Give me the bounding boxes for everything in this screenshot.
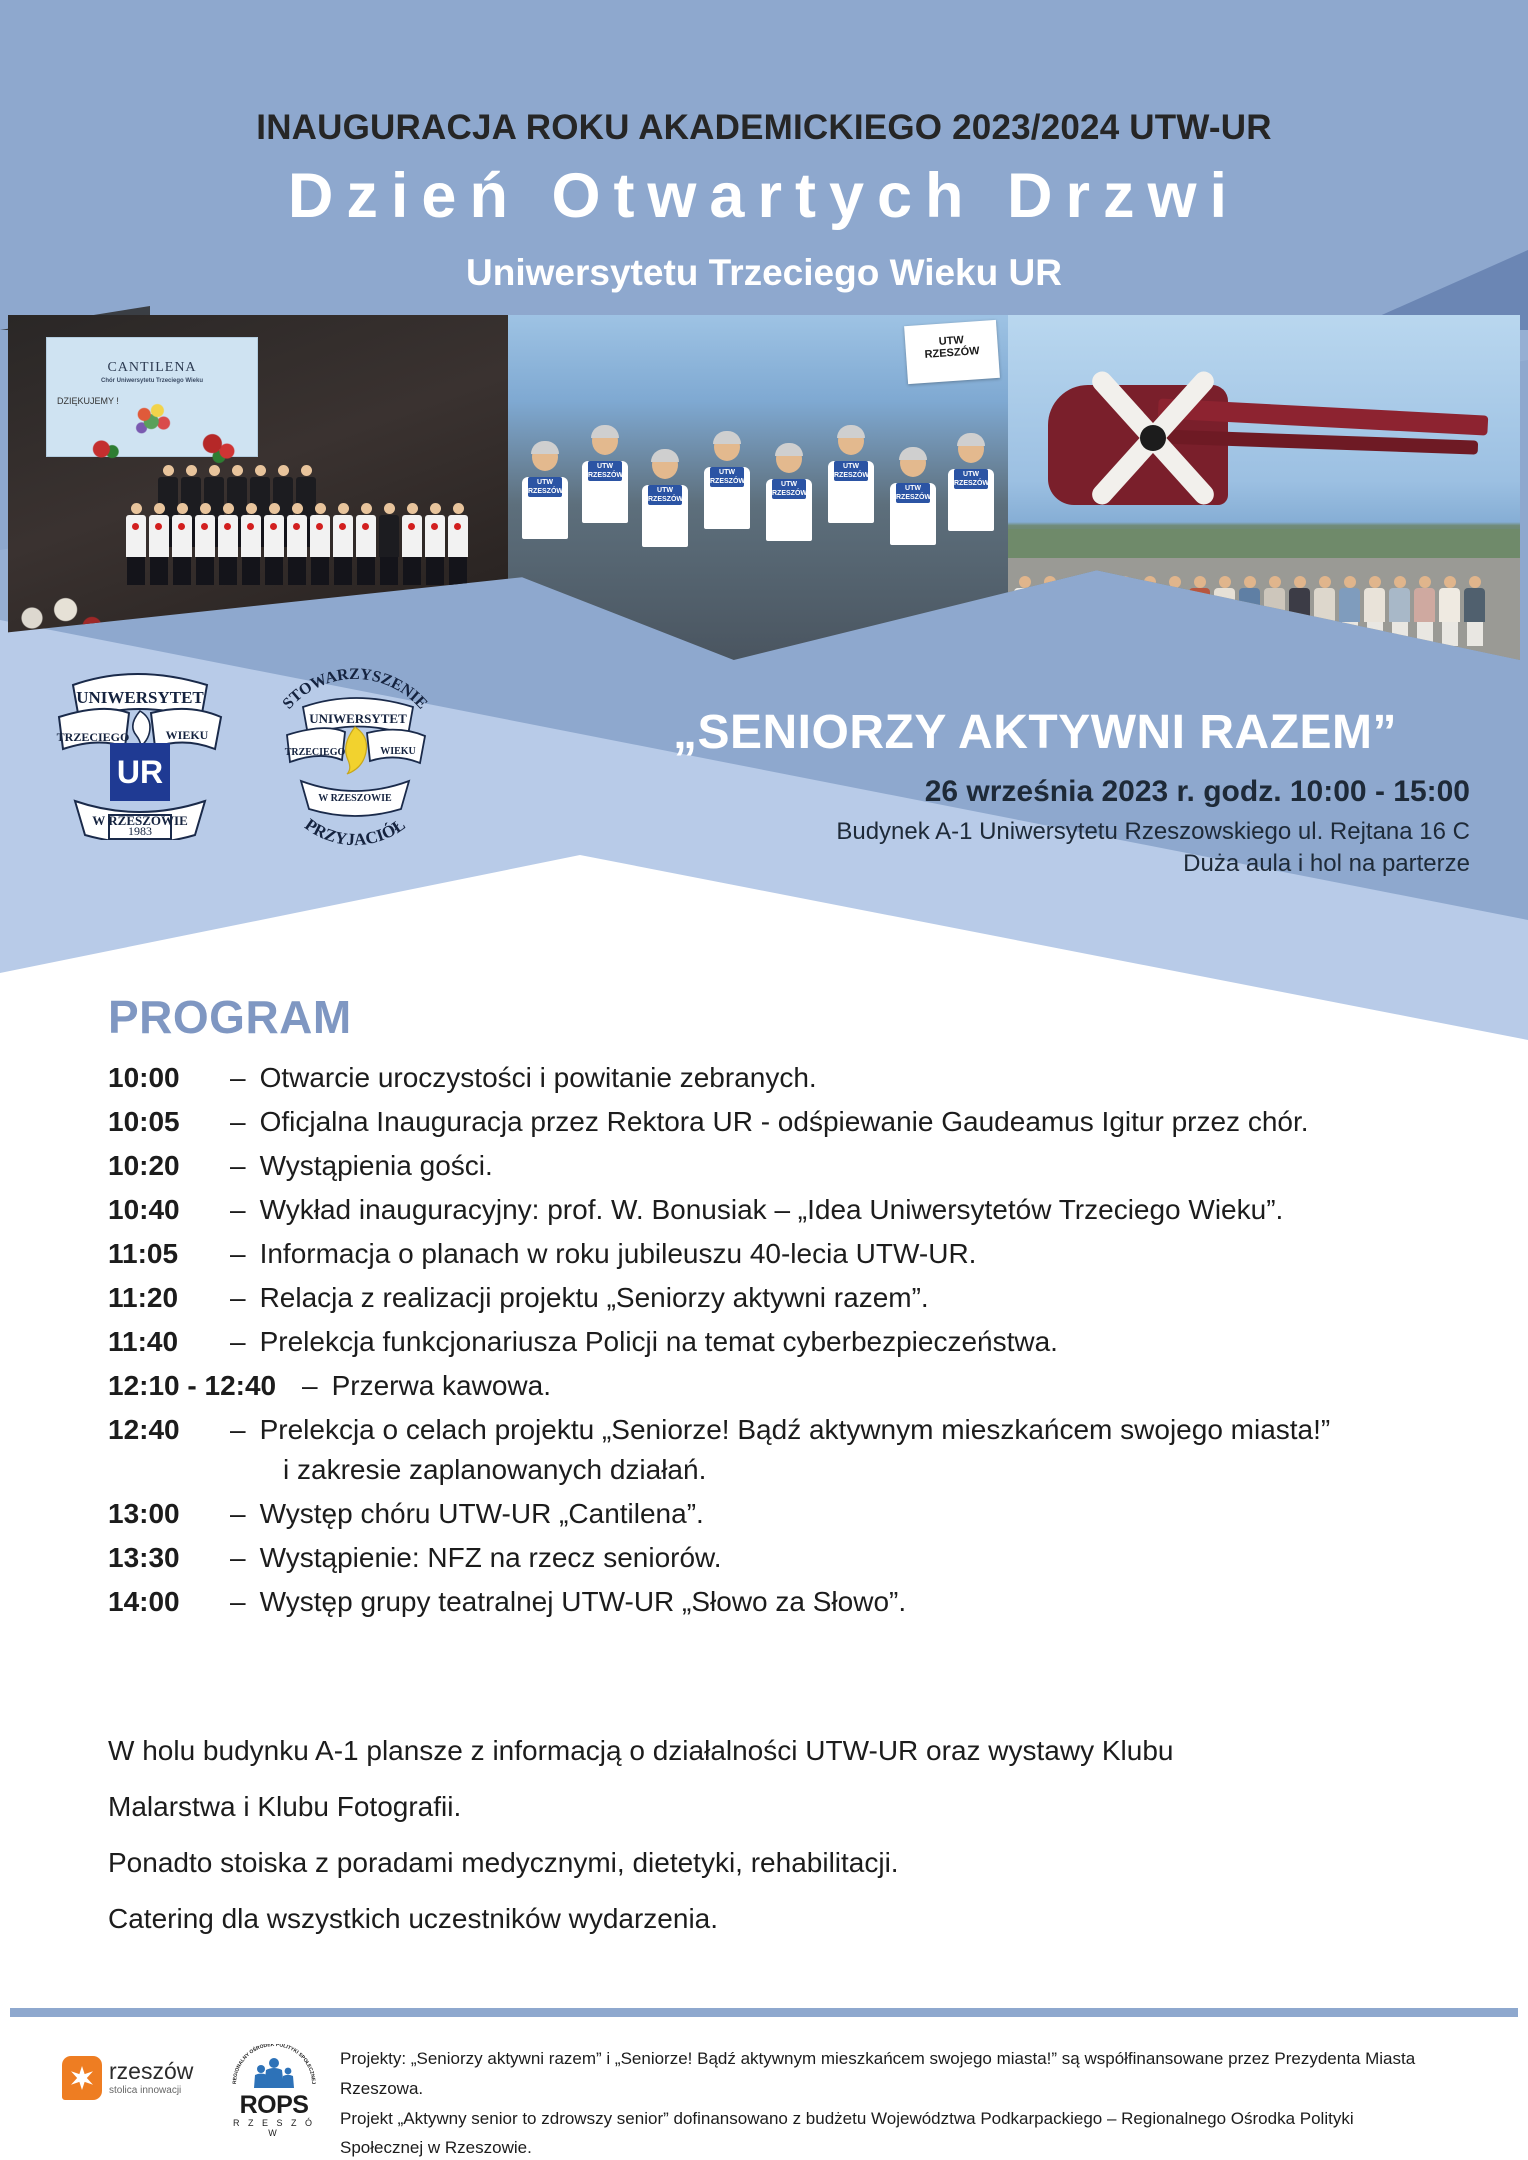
program-row-continuation: i zakresie zaplanowanych działań. <box>108 1454 1468 1486</box>
program-time: 11:40 <box>108 1326 226 1358</box>
choir-member <box>218 503 238 585</box>
program-time: 10:20 <box>108 1150 226 1182</box>
shirt-logo: UTWRZESZÓW <box>710 467 744 487</box>
choir-member <box>448 503 468 585</box>
event-place: Budynek A-1 Uniwersytetu Rzeszowskiego u… <box>600 818 1470 846</box>
crowd-person <box>1464 576 1486 646</box>
program-dash: – <box>226 1194 260 1226</box>
group-person: UTWRZESZÓW <box>642 451 688 547</box>
program-dash: – <box>226 1106 260 1138</box>
program-dash: – <box>226 1498 260 1530</box>
program-dash: – <box>226 1238 260 1270</box>
program-text: Relacja z realizacji projektu „Seniorzy … <box>260 1282 929 1314</box>
logo-rops: REGIONALNY OŚRODEK POLITYKI SPOŁECZNEJ R… <box>228 2044 320 2122</box>
program-text: Występ chóru UTW-UR „Cantilena”. <box>260 1498 704 1530</box>
program-row: 10:40 – Wykład inauguracyjny: prof. W. B… <box>108 1194 1468 1226</box>
rops-family-icon: REGIONALNY OŚRODEK POLITYKI SPOŁECZNEJ <box>228 2044 320 2088</box>
program-text: Wystąpienia gości. <box>260 1150 493 1182</box>
shirt-logo: UTWRZESZÓW <box>834 461 868 481</box>
rzeszow-tagline: stolica innowacji <box>109 2086 193 2096</box>
program-row: 10:20 – Wystąpienia gości. <box>108 1150 1468 1182</box>
note-line: Catering dla wszystkich uczestników wyda… <box>108 1903 1468 1935</box>
logo-utw-rzeszow: UR UNIWERSYTET TRZECIEGO WIEKU W RZESZOW… <box>45 655 235 840</box>
utw-banner-sign: UTW RZESZÓW <box>904 320 1000 384</box>
program-dash: – <box>226 1282 260 1314</box>
logo-stow-line4: W RZESZOWIE <box>318 793 392 804</box>
choir-member <box>172 503 192 585</box>
event-room: Duża aula i hol na parterze <box>600 850 1470 878</box>
group-person: UTWRZESZÓW <box>828 427 874 523</box>
footer-divider <box>10 2008 1518 2017</box>
footer-line-1: Projekty: „Seniorzy aktywni razem” i „Se… <box>340 2044 1500 2104</box>
note-line: Ponadto stoiska z poradami medycznymi, d… <box>108 1847 1468 1879</box>
program-time: 10:40 <box>108 1194 226 1226</box>
choir-member <box>241 503 261 585</box>
program-row: 11:40 – Prelekcja funkcjonariusza Policj… <box>108 1326 1468 1358</box>
page-subtitle: Uniwersytetu Trzeciego Wieku UR <box>0 252 1528 294</box>
footer-funding-text: Projekty: „Seniorzy aktywni razem” i „Se… <box>340 2044 1500 2160</box>
group-person: UTWRZESZÓW <box>890 449 936 545</box>
choir-member <box>356 503 376 585</box>
program-time: 12:40 <box>108 1414 226 1446</box>
choir-member <box>126 503 146 585</box>
program-time: 10:00 <box>108 1062 226 1094</box>
choir-member <box>425 503 445 585</box>
footer-line-2: Projekt „Aktywny senior to zdrowszy seni… <box>340 2104 1500 2134</box>
logo-utw-line2: TRZECIEGO <box>57 730 130 744</box>
program-notes: W holu budynku A-1 plansze z informacją … <box>108 1735 1468 1959</box>
rose-right-graphic <box>197 430 241 464</box>
slide-thanks: DZIĘKUJEMY ! <box>57 396 119 406</box>
program-text: Prelekcja funkcjonariusza Policji na tem… <box>260 1326 1058 1358</box>
program-text: Informacja o planach w roku jubileuszu 4… <box>260 1238 977 1270</box>
program-text-continuation: i zakresie zaplanowanych działań. <box>283 1454 706 1486</box>
program-dash: – <box>226 1326 260 1358</box>
poster-root: INAUGURACJA ROKU AKADEMICKIEGO 2023/2024… <box>0 0 1528 2160</box>
rzeszow-star-icon <box>62 2056 102 2100</box>
logo-rzeszow-city: rzeszów stolica innowacji <box>62 2052 210 2104</box>
program-row: 13:30 – Wystąpienie: NFZ na rzecz senior… <box>108 1542 1468 1574</box>
program-time: 13:30 <box>108 1542 226 1574</box>
program-row: 14:00 – Występ grupy teatralnej UTW-UR „… <box>108 1586 1468 1618</box>
choir-front-row <box>126 503 468 585</box>
group-person: UTWRZESZÓW <box>522 443 568 539</box>
program-text: Przerwa kawowa. <box>332 1370 551 1402</box>
program-text: Wystąpienie: NFZ na rzecz seniorów. <box>260 1542 722 1574</box>
group-person: UTWRZESZÓW <box>582 427 628 523</box>
program-row: 13:00 – Występ chóru UTW-UR „Cantilena”. <box>108 1498 1468 1530</box>
program-time: 11:05 <box>108 1238 226 1270</box>
header-kicker: INAUGURACJA ROKU AKADEMICKIEGO 2023/2024… <box>0 108 1528 148</box>
note-line: W holu budynku A-1 plansze z informacją … <box>108 1735 1468 1767</box>
program-dash: – <box>226 1150 260 1182</box>
program-row: 12:40 – Prelekcja o celach projektu „Sen… <box>108 1414 1468 1446</box>
shirt-logo: UTWRZESZÓW <box>588 461 622 481</box>
program-row: 11:20 – Relacja z realizacji projektu „S… <box>108 1282 1468 1314</box>
choir-member <box>333 503 353 585</box>
program-dash: – <box>226 1586 260 1618</box>
logo-stow-arc-bottom: PRZYJACIÓŁ <box>301 815 408 849</box>
logo-utw-year: 1983 <box>128 824 152 838</box>
logo-utw-line3: WIEKU <box>166 728 209 742</box>
program-time: 13:00 <box>108 1498 226 1530</box>
program-text: Występ grupy teatralnej UTW-UR „Słowo za… <box>260 1586 907 1618</box>
presentation-screen: CANTILENA Chór Uniwersytetu Trzeciego Wi… <box>46 337 258 457</box>
footer-line-3: Społecznej w Rzeszowie. <box>340 2133 1500 2160</box>
program-time: 14:00 <box>108 1586 226 1618</box>
rose-left-graphic <box>87 436 123 462</box>
slide-subtitle: Chór Uniwersytetu Trzeciego Wieku <box>47 378 257 384</box>
rops-wordmark: ROPS <box>228 2093 320 2118</box>
logo-stow-line3: WIEKU <box>380 746 416 757</box>
program-text: Oficjalna Inauguracja przez Rektora UR -… <box>260 1106 1309 1138</box>
svg-text:UR: UR <box>117 754 163 790</box>
program-time: 11:20 <box>108 1282 226 1314</box>
propeller-hub <box>1140 425 1166 451</box>
program-time: 10:05 <box>108 1106 226 1138</box>
crowd-person <box>1439 576 1461 646</box>
group-person: UTWRZESZÓW <box>704 433 750 529</box>
choir-member <box>149 503 169 585</box>
choir-member <box>287 503 307 585</box>
logo-stowarzyszenie-przyjaciol: STOWARZYSZENIE PRZYJACIÓŁ UNIWERSYTET TR… <box>255 655 455 850</box>
program-row: 10:00 – Otwarcie uroczystości i powitani… <box>108 1062 1468 1094</box>
propeller-icon <box>1078 363 1228 513</box>
shirt-logo: UTWRZESZÓW <box>528 477 562 497</box>
note-line: Malarstwa i Klubu Fotografii. <box>108 1791 1468 1823</box>
program-time: 12:10 - 12:40 <box>108 1370 298 1402</box>
program-heading: PROGRAM <box>108 990 352 1044</box>
program-dash: – <box>226 1414 260 1446</box>
logo-utw-line1: UNIWERSYTET <box>76 688 204 707</box>
program-dash: – <box>226 1542 260 1574</box>
slide-title: CANTILENA <box>47 360 257 376</box>
group-person: UTWRZESZÓW <box>766 445 812 541</box>
choir-member <box>264 503 284 585</box>
shirt-logo: UTWRZESZÓW <box>896 483 930 503</box>
program-dash: – <box>298 1370 332 1402</box>
logo-stow-line1: UNIWERSYTET <box>309 711 407 726</box>
logo-stow-line2: TRZECIEGO <box>285 747 346 758</box>
crowd-person <box>1414 576 1436 646</box>
choir-member <box>402 503 422 585</box>
group-person: UTWRZESZÓW <box>948 435 994 531</box>
program-text: Wykład inauguracyjny: prof. W. Bonusiak … <box>260 1194 1284 1226</box>
event-date: 26 września 2023 r. godz. 10:00 - 15:00 <box>600 775 1470 809</box>
choir-member <box>195 503 215 585</box>
rzeszow-name: rzeszów <box>109 2060 193 2083</box>
rops-city: R Z E S Z Ó W <box>228 2118 320 2138</box>
program-row: 11:05 – Informacja o planach w roku jubi… <box>108 1238 1468 1270</box>
program-dash: – <box>226 1062 260 1094</box>
page-title: Dzień Otwartych Drzwi <box>0 160 1528 232</box>
program-row: 12:10 - 12:40 – Przerwa kawowa. <box>108 1370 1468 1402</box>
program-row: 10:05 – Oficjalna Inauguracja przez Rekt… <box>108 1106 1468 1138</box>
shirt-logo: UTWRZESZÓW <box>772 479 806 499</box>
choir-member <box>310 503 330 585</box>
event-title: „SENIORZY AKTYWNI RAZEM” <box>600 705 1470 760</box>
program-text: Prelekcja o celach projektu „Seniorze! B… <box>260 1414 1331 1446</box>
bouquet-graphic <box>131 400 175 448</box>
shirt-logo: UTWRZESZÓW <box>648 485 682 505</box>
choir-conductor <box>379 503 399 585</box>
program-text: Otwarcie uroczystości i powitanie zebran… <box>260 1062 817 1094</box>
program-list: 10:00 – Otwarcie uroczystości i powitani… <box>108 1062 1468 1630</box>
shirt-logo: UTWRZESZÓW <box>954 469 988 489</box>
